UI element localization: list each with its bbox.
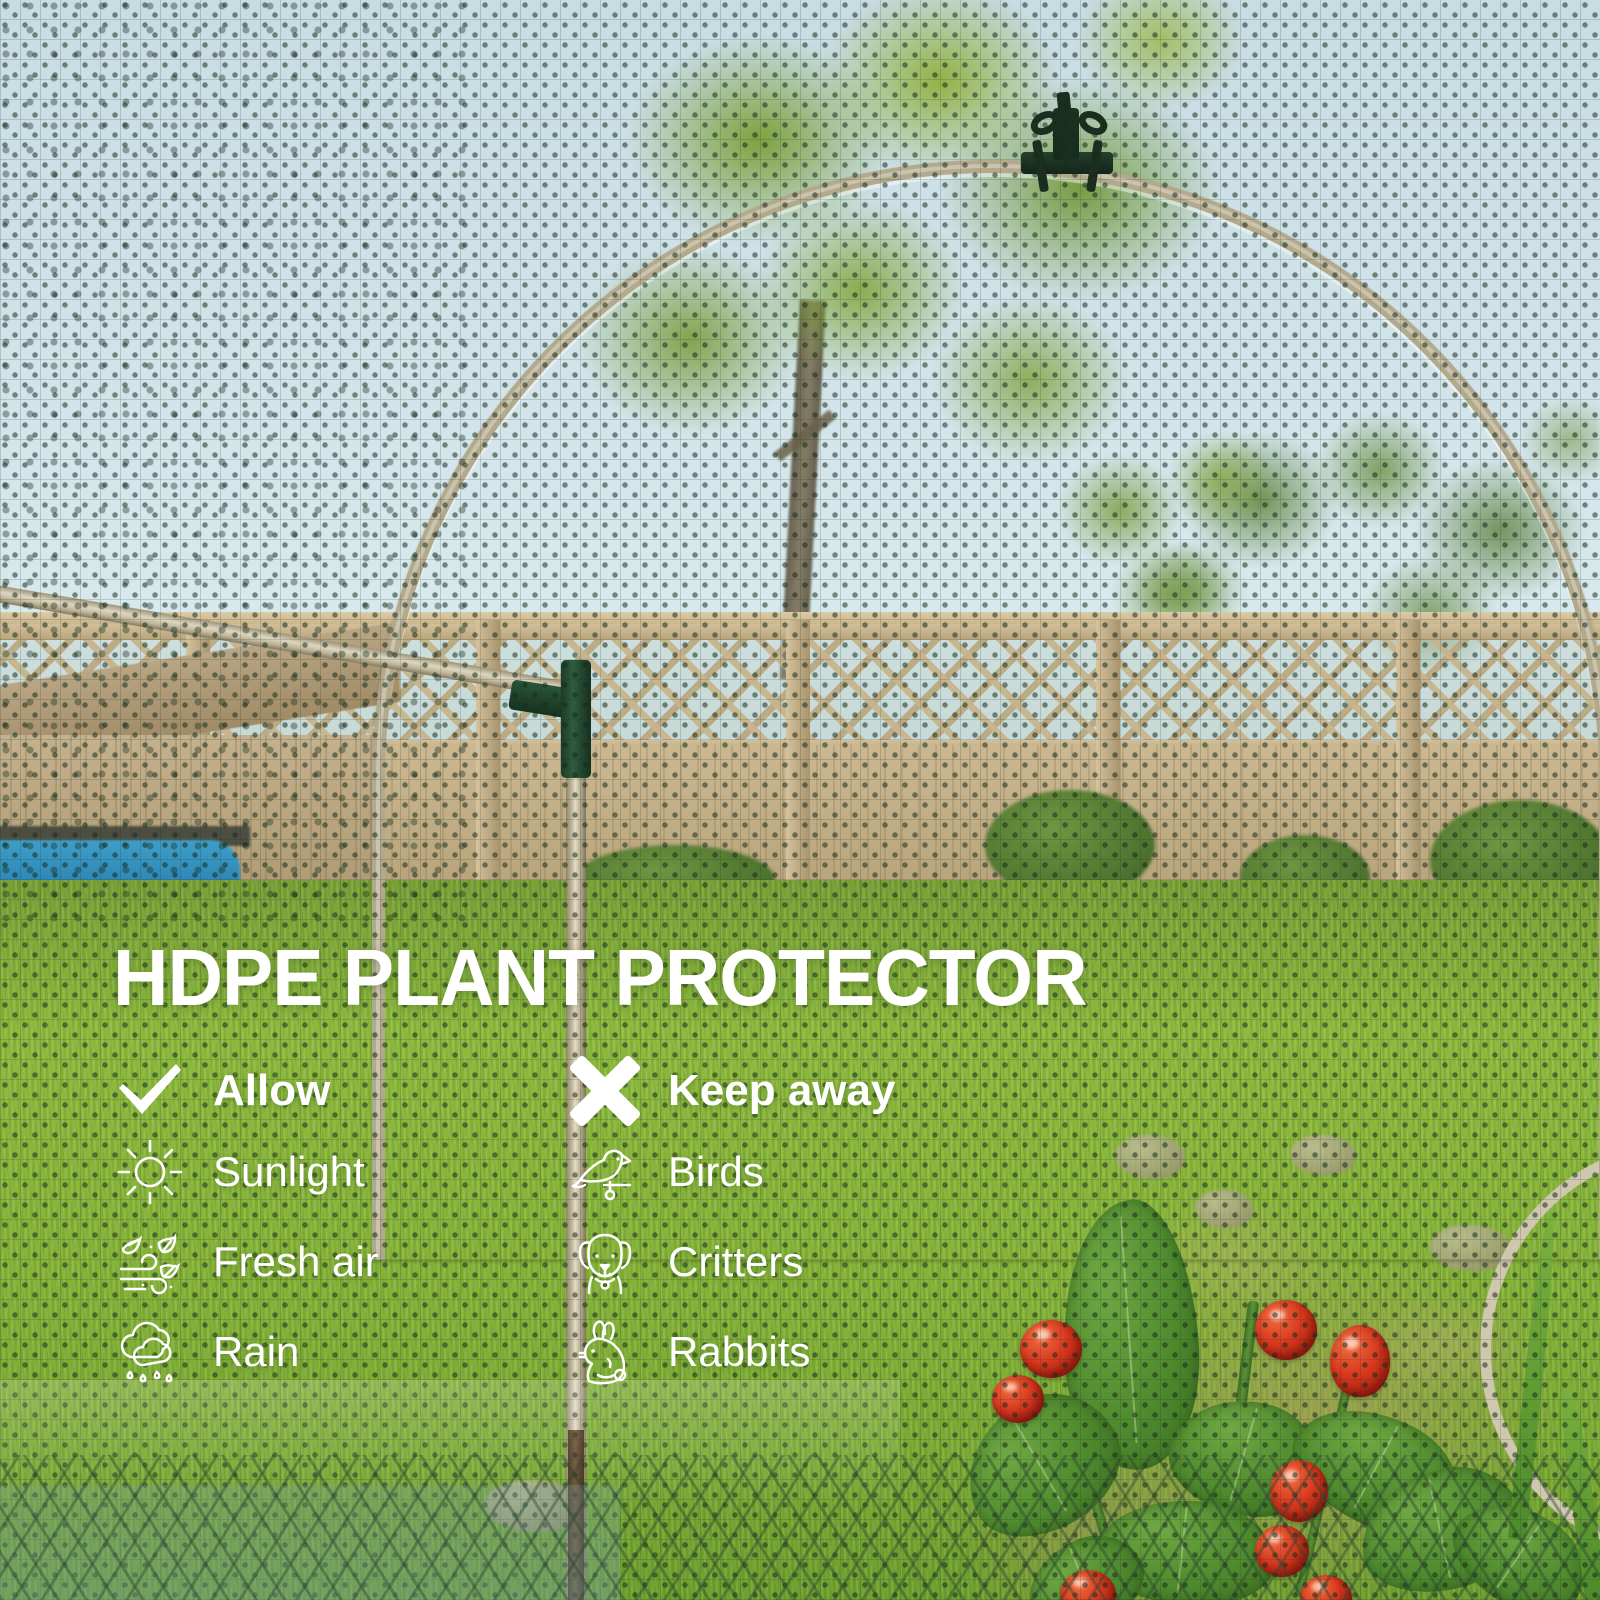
page-title: HDPE PLANT PROTECTOR <box>113 938 1087 1018</box>
feature-label: Birds <box>668 1148 764 1196</box>
dog-icon <box>568 1225 642 1299</box>
rabbit-icon <box>568 1315 642 1389</box>
feature-row-fresh-air: Fresh air <box>113 1217 379 1307</box>
column-heading-label: Keep away <box>668 1066 895 1116</box>
feature-row-birds: Birds <box>568 1127 895 1217</box>
product-marketing-image: HDPE PLANT PROTECTOR Allow <box>0 0 1600 1600</box>
bird-icon <box>568 1135 642 1209</box>
feature-label: Rabbits <box>668 1328 810 1376</box>
feature-row-critters: Critters <box>568 1217 895 1307</box>
sun-icon <box>113 1135 187 1209</box>
column-allow: Allow Sunlight <box>113 1055 379 1397</box>
wind-leaves-icon <box>113 1225 187 1299</box>
rain-cloud-icon <box>113 1315 187 1389</box>
feature-row-rain: Rain <box>113 1307 379 1397</box>
check-mark-icon <box>113 1054 187 1128</box>
feature-label: Fresh air <box>213 1238 379 1286</box>
cross-mark-icon <box>568 1054 642 1128</box>
text-overlay: HDPE PLANT PROTECTOR Allow <box>0 0 1600 1600</box>
feature-label: Critters <box>668 1238 803 1286</box>
column-heading-keep-away: Keep away <box>568 1055 895 1127</box>
column-keep-away: Keep away Birds <box>568 1055 895 1397</box>
feature-label: Sunlight <box>213 1148 365 1196</box>
feature-row-rabbits: Rabbits <box>568 1307 895 1397</box>
feature-row-sunlight: Sunlight <box>113 1127 379 1217</box>
feature-label: Rain <box>213 1328 299 1376</box>
column-heading-allow: Allow <box>113 1055 379 1127</box>
column-heading-label: Allow <box>213 1066 330 1116</box>
